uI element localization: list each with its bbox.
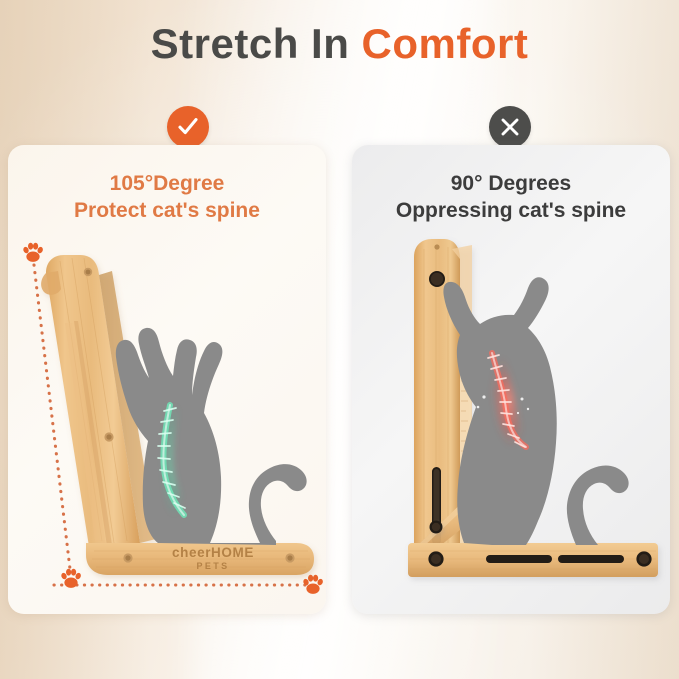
panel-bad: 90° Degrees Oppressing cat's spine xyxy=(352,145,670,614)
page-title-part1: Stretch In xyxy=(151,20,362,67)
page-title: Stretch In Comfort xyxy=(0,20,679,68)
panel-good-illustration: cheerHOME PETS xyxy=(8,145,326,614)
brand-logo-line2: PETS xyxy=(196,561,229,571)
cat-silhouette-stretching xyxy=(116,328,307,545)
product-infographic: Stretch In Comfort 105°Degree Protect ca… xyxy=(0,0,679,679)
cross-badge xyxy=(489,106,531,148)
bad-product-scene xyxy=(352,145,670,614)
brand-logo-line1: cheerHOME xyxy=(172,545,254,560)
check-icon xyxy=(175,114,201,140)
page-title-part2: Comfort xyxy=(362,20,529,67)
panel-good: 105°Degree Protect cat's spine xyxy=(8,145,326,614)
good-product-scene: cheerHOME PETS xyxy=(8,145,326,614)
panel-bad-illustration xyxy=(352,145,670,614)
close-x-icon xyxy=(497,114,523,140)
check-badge xyxy=(167,106,209,148)
